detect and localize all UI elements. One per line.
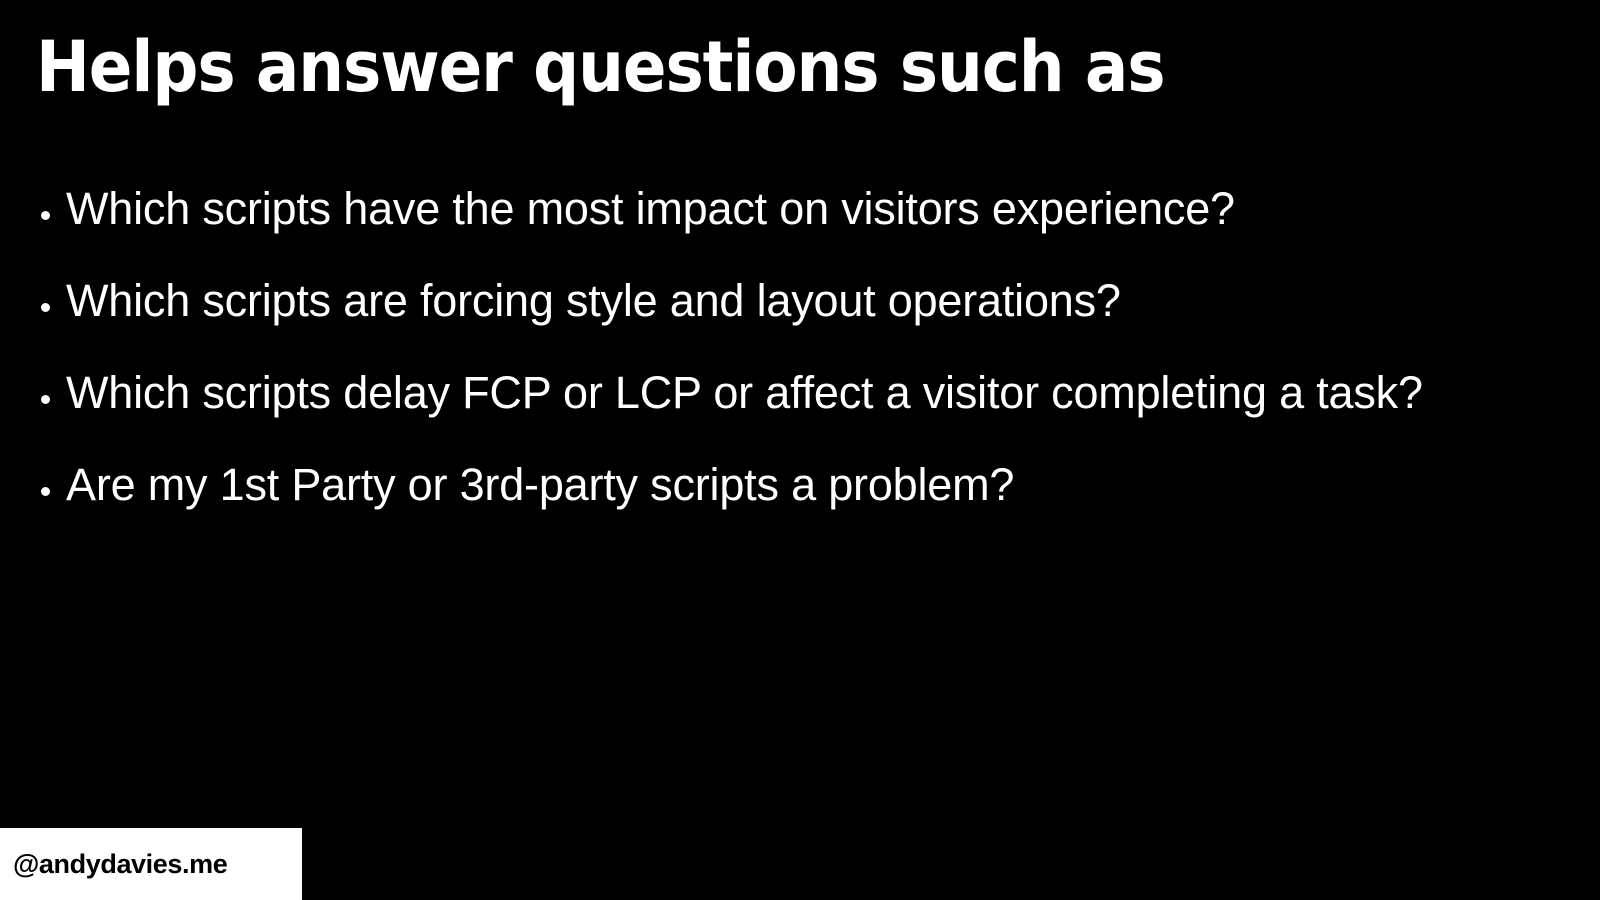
list-item-label: Which scripts are forcing style and layo…	[66, 270, 1121, 332]
list-item-label: Are my 1st Party or 3rd-party scripts a …	[66, 454, 1014, 516]
list-item: Which scripts delay FCP or LCP or affect…	[36, 362, 1576, 454]
bullet-dot-icon	[41, 303, 50, 312]
page-title: Helps answer questions such as	[36, 32, 1164, 102]
bullet-list: Which scripts have the most impact on vi…	[36, 178, 1576, 546]
list-item-label: Which scripts delay FCP or LCP or affect…	[66, 362, 1423, 424]
bullet-dot-icon	[41, 487, 50, 496]
bullet-dot-icon	[41, 211, 50, 220]
author-handle: @andydavies.me	[0, 849, 227, 880]
list-item: Which scripts are forcing style and layo…	[36, 270, 1576, 362]
bullet-dot-icon	[41, 395, 50, 404]
list-item: Are my 1st Party or 3rd-party scripts a …	[36, 454, 1576, 546]
footer-badge: @andydavies.me	[0, 828, 302, 900]
list-item-label: Which scripts have the most impact on vi…	[66, 178, 1235, 240]
list-item: Which scripts have the most impact on vi…	[36, 178, 1576, 270]
slide-canvas: Helps answer questions such as Which scr…	[0, 0, 1600, 900]
